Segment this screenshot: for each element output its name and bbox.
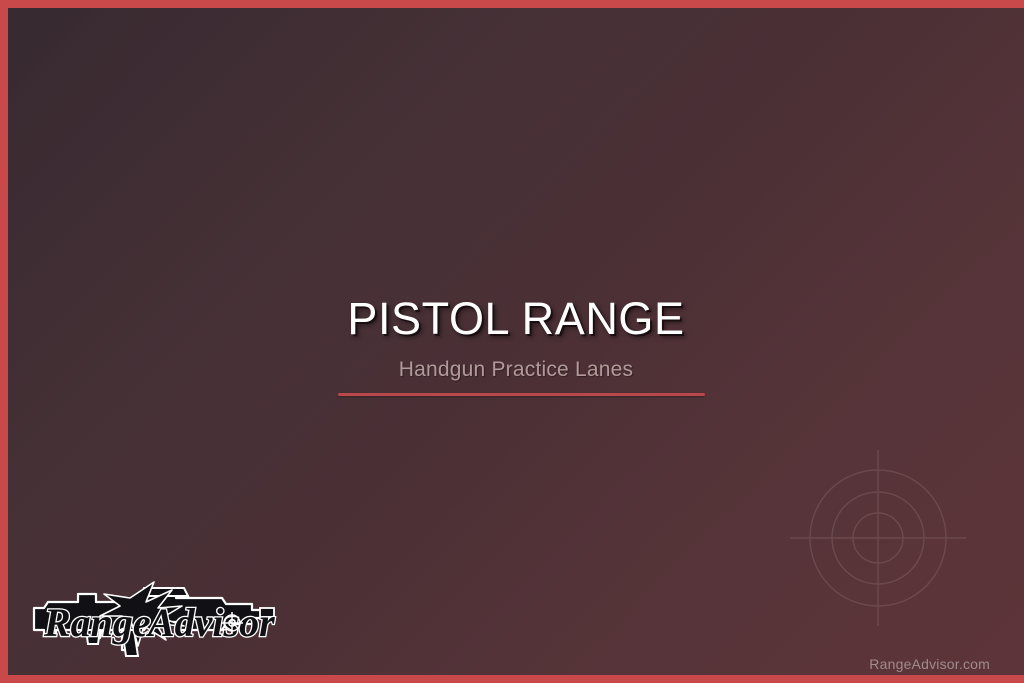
brand-wordmark-part-one: Range	[43, 600, 151, 645]
brand-logo: Range Advisor	[26, 564, 278, 664]
target-crosshair-icon	[782, 442, 974, 634]
slide-root: PISTOL RANGE Handgun Practice Lanes	[0, 0, 1024, 683]
slide-canvas: PISTOL RANGE Handgun Practice Lanes	[8, 8, 1024, 675]
title-divider	[338, 393, 705, 396]
page-title: PISTOL RANGE	[8, 293, 1024, 345]
brand-wordmark-part-two: Advisor	[145, 600, 275, 645]
site-watermark: RangeAdvisor.com	[869, 656, 990, 672]
page-subtitle: Handgun Practice Lanes	[8, 358, 1024, 382]
